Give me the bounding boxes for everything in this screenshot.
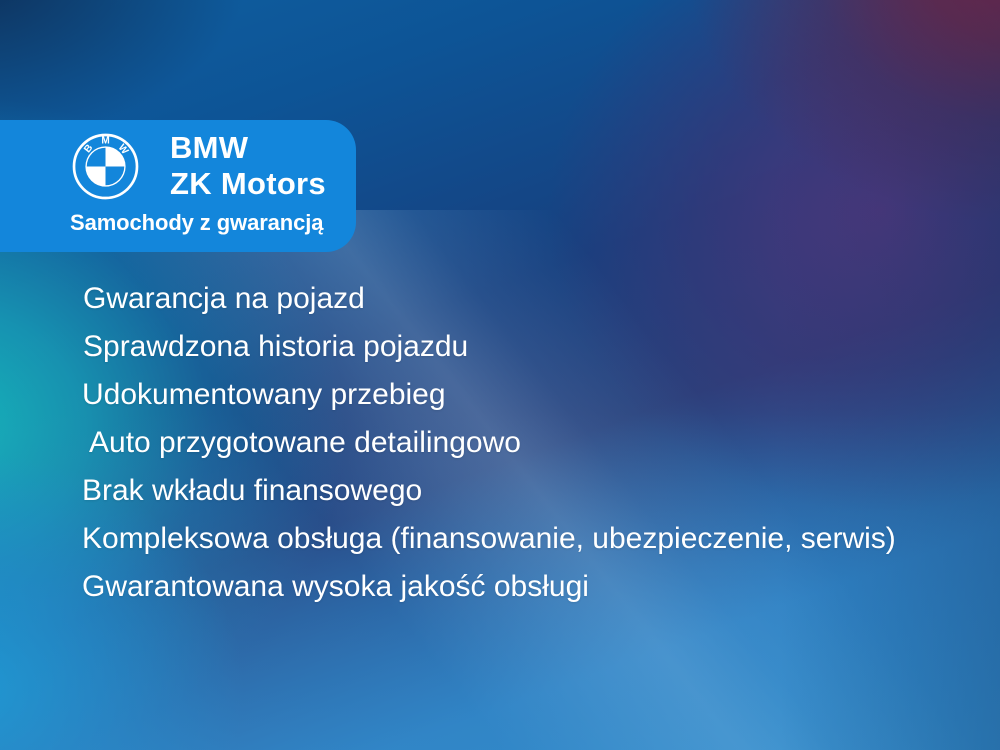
benefits-list: Gwarancja na pojazdSprawdzona historia p… [0, 275, 1000, 611]
promo-banner: B M W BMW ZK Motors Samochody z gwarancj… [0, 0, 1000, 750]
benefit-item: Udokumentowany przebieg [0, 371, 1000, 419]
svg-text:M: M [101, 136, 109, 147]
brand-badge: B M W BMW ZK Motors Samochody z gwarancj… [0, 120, 356, 252]
bmw-roundel-icon: B M W [72, 133, 139, 200]
benefit-item: Kompleksowa obsługa (finansowanie, ubezp… [0, 515, 1000, 563]
benefit-item: Brak wkładu finansowego [0, 467, 1000, 515]
benefit-item: Auto przygotowane detailingowo [0, 419, 1000, 467]
brand-tagline: Samochody z gwarancją [70, 210, 323, 236]
brand-name-block: BMW ZK Motors [170, 130, 326, 202]
benefit-item: Sprawdzona historia pojazdu [0, 323, 1000, 371]
benefit-item: Gwarancja na pojazd [0, 275, 1000, 323]
brand-name-line-2: ZK Motors [170, 166, 326, 202]
brand-name-line-1: BMW [170, 130, 326, 166]
benefit-item: Gwarantowana wysoka jakość obsługi [0, 563, 1000, 611]
